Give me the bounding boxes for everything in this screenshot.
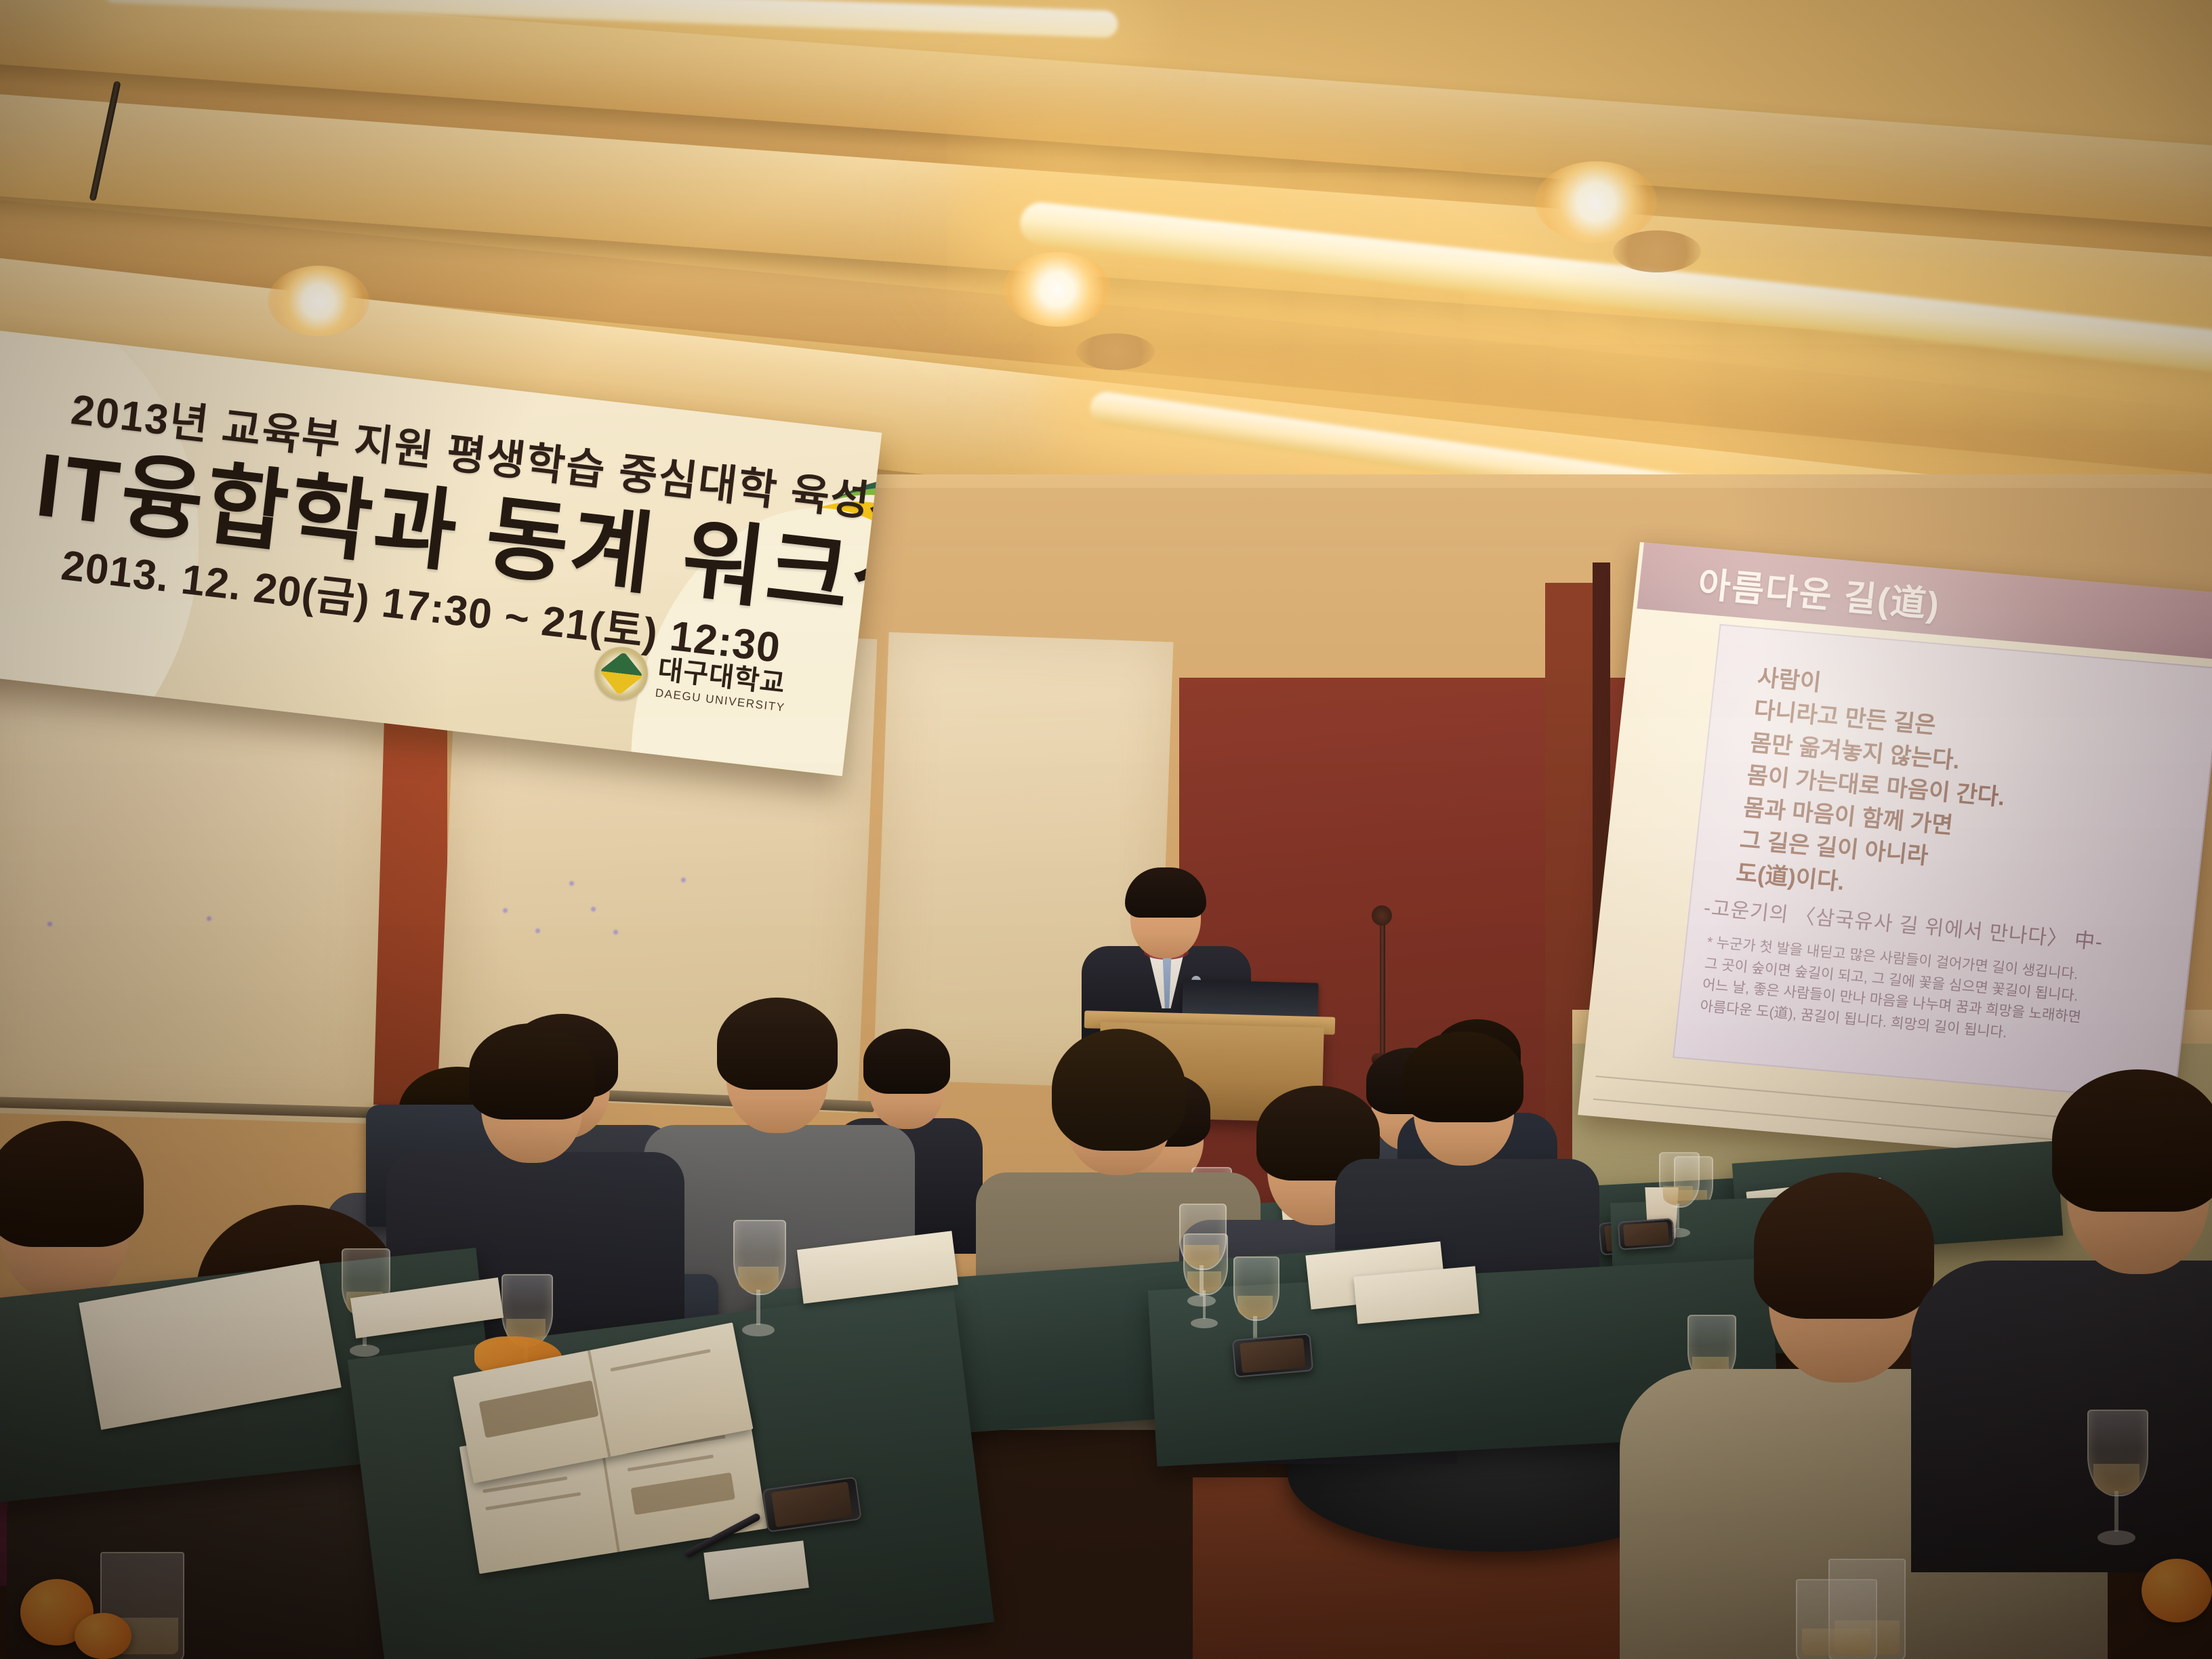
presenter-hair xyxy=(1125,867,1206,918)
phone-screen[interactable] xyxy=(1240,1338,1306,1374)
ceiling-downlight xyxy=(1076,333,1155,370)
slide-title: 아름다운 길(道) xyxy=(1696,555,1943,627)
booklet-text-line xyxy=(485,1492,581,1511)
tangerine[interactable] xyxy=(2142,1559,2212,1622)
slide-note: * 누군가 첫 발을 내딛고 많은 사람들이 걸어가면 길이 생깁니다. 그 곳… xyxy=(1699,932,2194,1059)
attendee-hair xyxy=(863,1029,950,1094)
glass-stem xyxy=(2114,1491,2119,1532)
glass-stem xyxy=(756,1290,760,1325)
booklet-text-line xyxy=(628,1454,714,1471)
roller-screen[interactable] xyxy=(0,645,386,1124)
glass-foot xyxy=(1187,1295,1216,1307)
wine-glass[interactable] xyxy=(2087,1410,2146,1545)
water-tumbler[interactable] xyxy=(1796,1579,1877,1659)
attendee-hair xyxy=(469,1023,595,1120)
ceiling-downlight xyxy=(1613,230,1701,272)
microphone-icon[interactable] xyxy=(1372,905,1392,926)
smartphone[interactable] xyxy=(1618,1218,1675,1250)
projection-speckle xyxy=(47,922,52,926)
slide-content-box: 사람이 다니라고 만든 길은 몸만 옮겨놓지 않는다. 몸이 가는대로 마음이 … xyxy=(1673,624,2212,1102)
glass-liquid xyxy=(738,1267,778,1292)
wine-glass[interactable] xyxy=(1179,1204,1224,1307)
attendee-hair xyxy=(1052,1029,1186,1151)
projection-speckle xyxy=(591,907,596,912)
booklet-image-block xyxy=(630,1473,735,1515)
glass-foot xyxy=(350,1345,380,1357)
tangerine[interactable] xyxy=(75,1613,131,1659)
smartphone[interactable] xyxy=(1232,1333,1313,1378)
ceiling-downlight xyxy=(1535,161,1657,243)
attendee-hair xyxy=(1754,1172,1934,1319)
attendee-hair xyxy=(1403,1031,1523,1122)
conference-room-scene: 2013년 교육부 지원 평생학습 중심대학 육성사업 IT융합학과 동계 워크… xyxy=(0,0,2212,1659)
projection-speckle xyxy=(613,930,618,935)
ceiling-downlight xyxy=(268,266,369,336)
logo-emblem-icon xyxy=(592,644,651,703)
attendee-hair xyxy=(2052,1069,2212,1212)
glass-liquid xyxy=(1237,1296,1272,1317)
glass-foot xyxy=(1191,1318,1218,1328)
projection-speckle xyxy=(207,916,211,921)
phone-screen[interactable] xyxy=(1623,1221,1669,1246)
wine-glass[interactable] xyxy=(733,1220,783,1336)
glass-liquid xyxy=(2093,1464,2140,1494)
phone-screen[interactable] xyxy=(771,1481,853,1527)
projection-speckle xyxy=(681,878,686,882)
booklet-text-line xyxy=(610,1349,710,1372)
projection-speckle xyxy=(535,928,540,933)
laptop[interactable] xyxy=(1182,979,1318,1018)
ceiling-downlight xyxy=(1003,252,1111,327)
attendee-torso xyxy=(1911,1261,2212,1572)
glass-liquid xyxy=(1184,1245,1220,1267)
attendee-hair xyxy=(717,998,838,1090)
glass-foot xyxy=(2097,1530,2135,1545)
tumbler-liquid xyxy=(1802,1629,1871,1656)
slide-poem: 사람이 다니라고 만든 길은 몸만 옮겨놓지 않는다. 몸이 가는대로 마음이 … xyxy=(1735,661,2018,912)
glass-foot xyxy=(742,1324,774,1336)
projection-speckle xyxy=(503,908,508,913)
logo-diamond-icon xyxy=(600,651,644,695)
projection-speckle xyxy=(569,881,574,886)
glass-stem xyxy=(1200,1265,1203,1296)
booklet-image-block xyxy=(478,1380,598,1438)
glass-stem xyxy=(1677,1204,1679,1229)
